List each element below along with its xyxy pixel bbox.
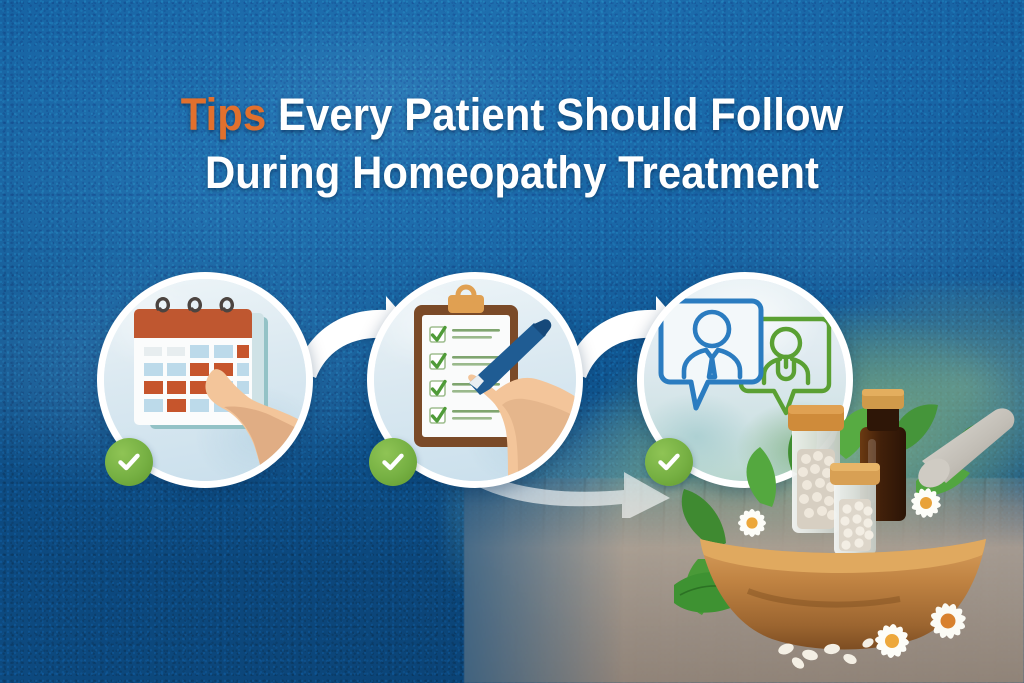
banner-canvas: Tips Every Patient Should Follow During … — [0, 0, 1024, 683]
globule-bottle-small — [830, 463, 880, 555]
step-3-status-badge — [645, 438, 693, 486]
homeopathy-mortar-decor — [664, 353, 1024, 683]
check-badge-icon — [114, 447, 144, 477]
title-line2: During Homeopathy Treatment — [36, 144, 988, 202]
page-title: Tips Every Patient Should Follow During … — [36, 86, 988, 202]
step-1-status-badge — [105, 438, 153, 486]
check-badge-icon — [654, 447, 684, 477]
title-line1-rest: Every Patient Should Follow — [266, 89, 843, 140]
step-2-status-badge — [369, 438, 417, 486]
title-accent-word: Tips — [181, 89, 267, 140]
check-badge-icon — [378, 447, 408, 477]
